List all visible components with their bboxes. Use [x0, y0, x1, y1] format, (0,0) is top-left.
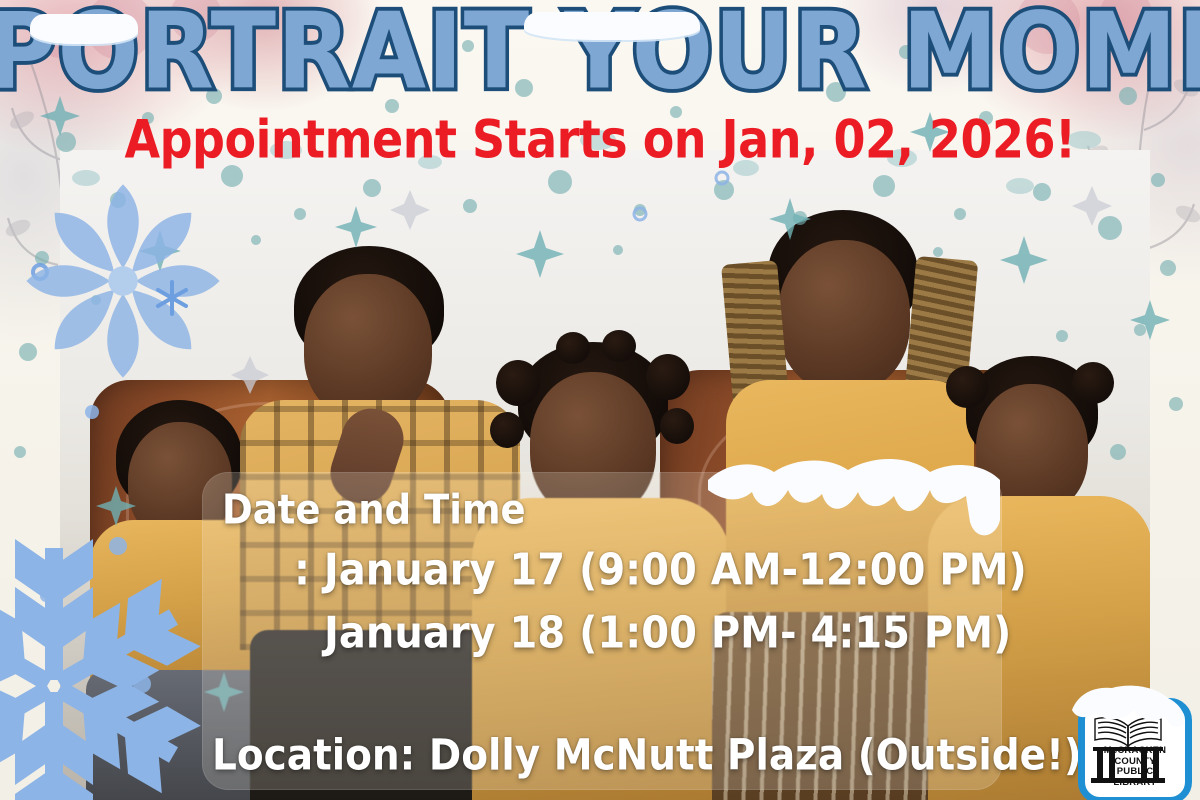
snow-cap-decoration [30, 14, 138, 44]
snow-cap-decoration [1068, 684, 1190, 732]
sparkle-icon [152, 278, 192, 318]
logo-line-3: PUBLIC [1085, 767, 1185, 778]
poster-canvas: PORTRAIT YOUR MOMENT Appointment Starts … [0, 0, 1200, 800]
datetime-label: Date and Time [222, 486, 526, 533]
snowflake-icon [0, 536, 204, 800]
logo-line-4: LIBRARY [1085, 778, 1185, 789]
logo-line-1: McCRACKEN [1085, 746, 1185, 757]
library-logo[interactable]: McCRACKEN COUNTY PUBLIC LIBRARY [1070, 688, 1186, 792]
location-line: Location: Dolly McNutt Plaza (Outside!) [212, 731, 1082, 781]
schedule-line-1: : January 17 (9:00 AM-12:00 PM) [294, 545, 1027, 596]
snow-drip-decoration [708, 446, 1008, 556]
poster-subtitle: Appointment Starts on Jan, 02, 2026! [0, 113, 1200, 165]
snow-cap-decoration [524, 12, 700, 40]
snowflake-icon [18, 176, 228, 386]
schedule-line-2: January 18 (1:00 PM- 4:15 PM) [324, 608, 1011, 659]
